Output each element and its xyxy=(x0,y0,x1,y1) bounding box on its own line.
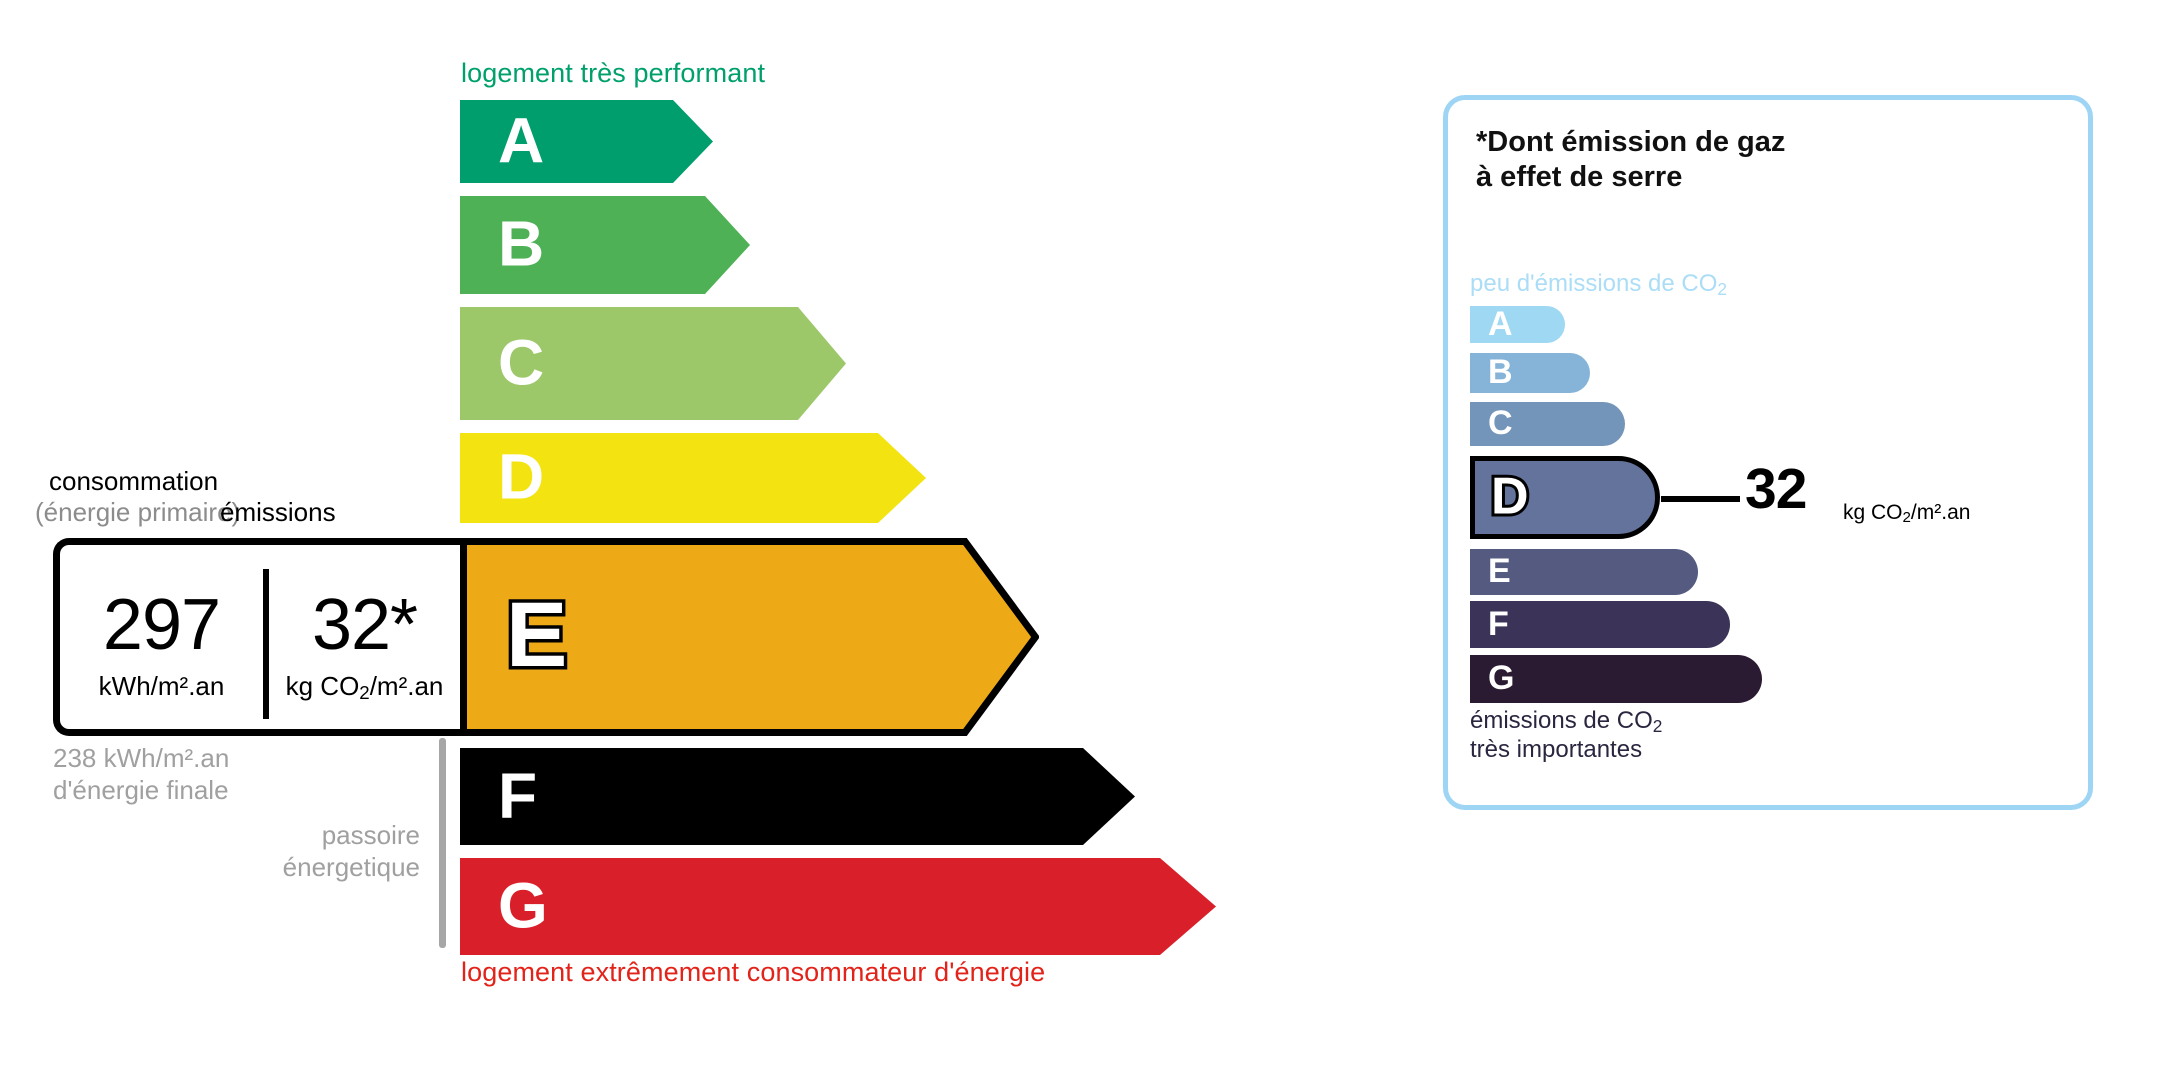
energy-class-letter-g: G xyxy=(498,873,548,937)
energy-class-letter-a: A xyxy=(498,108,544,172)
energy-performance-scale: logement très performant ABCDEFG logemen… xyxy=(0,0,1400,1079)
co2-class-bar-g: G xyxy=(1470,655,1762,703)
primary-energy-value: 297 xyxy=(60,589,263,661)
co2-bottom-caption: émissions de CO2 très importantes xyxy=(1470,707,1662,765)
emissions-value: 32* xyxy=(269,589,460,661)
co2-class-letter-e: E xyxy=(1488,554,1511,588)
emissions-unit: kg CO2/m².an xyxy=(269,671,460,702)
passoire-line1: passoire xyxy=(140,820,420,852)
energy-class-bar-b: B xyxy=(460,196,750,294)
co2-bottom-line2: très importantes xyxy=(1470,736,1662,765)
co2-class-bar-b: B xyxy=(1470,353,1590,393)
co2-value: 32 xyxy=(1745,461,1806,518)
primary-energy-cell: 297 kWh/m².an xyxy=(60,545,263,729)
co2-panel-title: *Dont émission de gaz à effet de serre xyxy=(1476,125,1785,196)
energy-class-letter-e: E xyxy=(506,589,567,681)
passoire-energetique-label: passoire énergetique xyxy=(140,820,420,883)
co2-class-letter-a: A xyxy=(1488,306,1513,340)
co2-class-bar-c: C xyxy=(1470,402,1625,446)
energy-class-bar-f: F xyxy=(460,748,1135,845)
energy-class-bar-d: D xyxy=(460,433,926,523)
energy-class-letter-f: F xyxy=(498,763,537,827)
arrow-shape-f xyxy=(460,748,1135,845)
final-energy-line2: d'énergie finale xyxy=(53,775,229,807)
co2-value-unit: kg CO2/m².an xyxy=(1843,501,1970,525)
final-energy-note: 238 kWh/m².an d'énergie finale xyxy=(53,743,229,806)
energie-primaire-label: (énergie primaire) xyxy=(35,497,240,528)
co2-class-letter-g: G xyxy=(1488,661,1514,695)
emissions-cell: 32* kg CO2/m².an xyxy=(269,545,460,729)
consommation-label: consommation xyxy=(49,466,218,497)
passoire-bracket-rule xyxy=(439,738,446,948)
energy-class-letter-d: D xyxy=(498,445,544,509)
energy-class-bar-a: A xyxy=(460,100,713,183)
final-energy-line1: 238 kWh/m².an xyxy=(53,743,229,775)
energy-class-letter-c: C xyxy=(498,330,544,394)
energy-class-bar-c: C xyxy=(460,307,846,420)
co2-class-bar-f: F xyxy=(1470,601,1730,648)
arrow-shape-g xyxy=(460,858,1216,955)
energy-bottom-caption: logement extrêmement consommateur d'éner… xyxy=(461,957,1045,988)
co2-class-letter-b: B xyxy=(1488,355,1513,389)
co2-class-letter-d: D xyxy=(1491,470,1529,522)
co2-class-bar-d: D xyxy=(1470,456,1660,539)
co2-class-letter-c: C xyxy=(1488,406,1513,440)
co2-class-bar-a: A xyxy=(1470,306,1565,343)
energy-class-letter-b: B xyxy=(498,212,544,276)
dpe-label: logement très performant ABCDEFG logemen… xyxy=(0,0,2169,1079)
energy-class-bar-e: E xyxy=(460,538,1039,736)
energy-class-bar-g: G xyxy=(460,858,1216,955)
passoire-line2: énergetique xyxy=(140,852,420,884)
co2-top-caption: peu d'émissions de CO2 xyxy=(1470,270,1727,298)
co2-title-line2: à effet de serre xyxy=(1476,160,1785,195)
emissions-label: émissions xyxy=(220,497,336,528)
co2-class-bar-e: E xyxy=(1470,549,1698,595)
value-box: 297 kWh/m².an 32* kg CO2/m².an xyxy=(53,538,460,736)
co2-leader-line xyxy=(1661,496,1740,502)
co2-title-line1: *Dont émission de gaz xyxy=(1476,125,1785,160)
energy-top-caption: logement très performant xyxy=(461,58,765,89)
co2-bottom-line1: émissions de CO2 xyxy=(1470,707,1662,736)
co2-class-letter-f: F xyxy=(1488,606,1509,640)
primary-energy-unit: kWh/m².an xyxy=(60,671,263,702)
